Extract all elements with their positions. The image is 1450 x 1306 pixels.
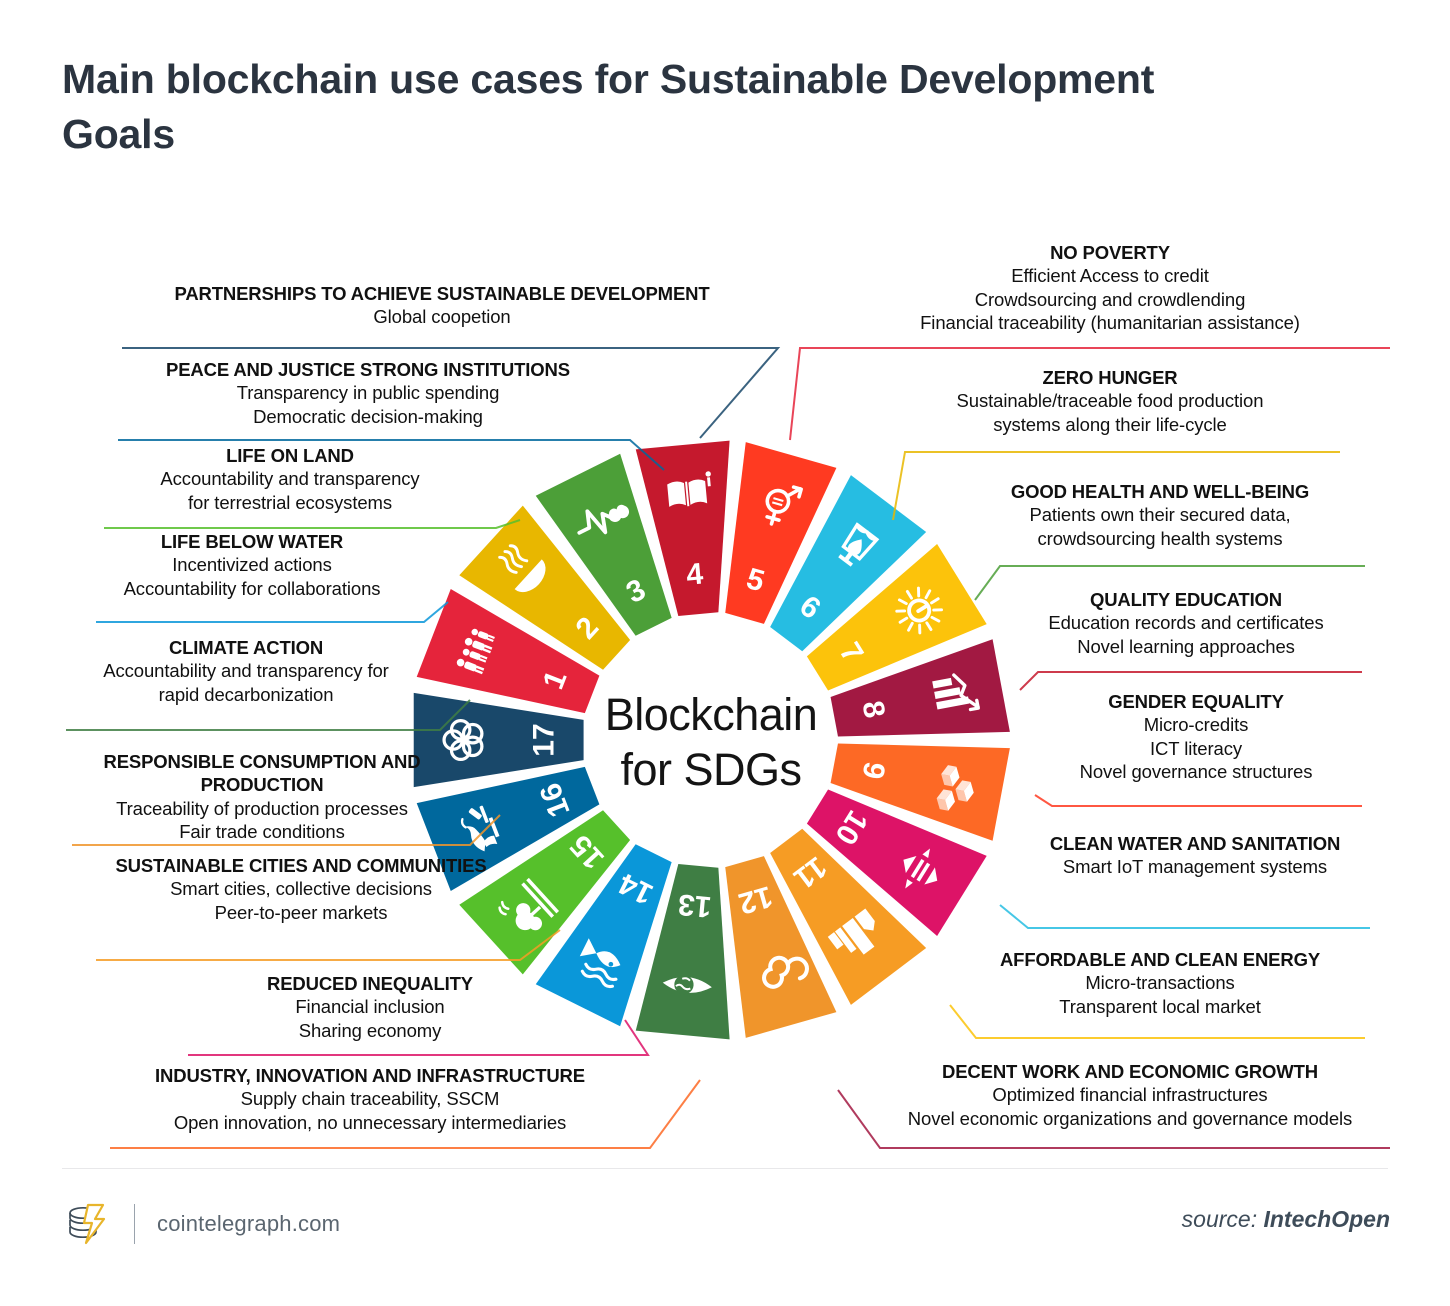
page-title: Main blockchain use cases for Sustainabl… <box>62 52 1162 163</box>
goal-title-13: CLIMATE ACTION <box>56 636 436 659</box>
goal-title-4: QUALITY EDUCATION <box>1010 588 1362 611</box>
goal-detail-3-2: crowdsourcing health systems <box>955 527 1365 550</box>
source-credit: source: IntechOpen <box>1182 1206 1390 1233</box>
goal-title-8: DECENT WORK AND ECONOMIC GROWTH <box>870 1060 1390 1083</box>
goal-label-13[interactable]: CLIMATE ACTIONAccountability and transpa… <box>56 636 436 706</box>
goal-detail-7-1: Micro-transactions <box>955 971 1365 994</box>
goal-detail-13-1: Accountability and transparency for <box>56 659 436 682</box>
goal-title-16: PEACE AND JUSTICE STRONG INSTITUTIONS <box>108 358 628 381</box>
goal-detail-17-1: Global coopetion <box>112 305 772 328</box>
goal-label-14[interactable]: LIFE BELOW WATERIncentivized actionsAcco… <box>84 530 420 600</box>
goal-label-7[interactable]: AFFORDABLE AND CLEAN ENERGYMicro-transac… <box>955 948 1365 1018</box>
site-url[interactable]: cointelegraph.com <box>157 1211 340 1237</box>
goal-detail-1-2: Crowdsourcing and crowdlending <box>830 288 1390 311</box>
goal-title-9: INDUSTRY, INNOVATION AND INFRASTRUCTURE <box>100 1064 640 1087</box>
goal-detail-11-1: Smart cities, collective decisions <box>86 877 516 900</box>
goal-detail-11-2: Peer-to-peer markets <box>86 901 516 924</box>
connector-4 <box>1020 672 1362 690</box>
goal-label-17[interactable]: PARTNERSHIPS TO ACHIEVE SUSTAINABLE DEVE… <box>112 282 772 329</box>
goal-detail-2-1: Sustainable/traceable food production <box>880 389 1340 412</box>
goal-detail-5-1: Micro-credits <box>1030 713 1362 736</box>
goal-label-8[interactable]: DECENT WORK AND ECONOMIC GROWTHOptimized… <box>870 1060 1390 1130</box>
goal-detail-3-1: Patients own their secured data, <box>955 503 1365 526</box>
goal-detail-15-2: for terrestrial ecosystems <box>90 491 490 514</box>
goal-title-2: ZERO HUNGER <box>880 366 1340 389</box>
goal-detail-1-3: Financial traceability (humanitarian ass… <box>830 311 1390 334</box>
goal-title-11: SUSTAINABLE CITIES AND COMMUNITIES <box>86 854 516 877</box>
goal-label-12[interactable]: RESPONSIBLE CONSUMPTION AND PRODUCTIONTr… <box>62 750 462 844</box>
goal-title-17: PARTNERSHIPS TO ACHIEVE SUSTAINABLE DEVE… <box>112 282 772 305</box>
goal-detail-1-1: Efficient Access to credit <box>830 264 1390 287</box>
goal-label-15[interactable]: LIFE ON LANDAccountability and transpare… <box>90 444 490 514</box>
brand-divider <box>134 1204 135 1244</box>
goal-detail-9-2: Open innovation, no unnecessary intermed… <box>100 1111 640 1134</box>
goal-detail-6-1: Smart IoT management systems <box>1020 855 1370 878</box>
goal-title-3: GOOD HEALTH AND WELL-BEING <box>955 480 1365 503</box>
goal-label-4[interactable]: QUALITY EDUCATIONEducation records and c… <box>1010 588 1362 658</box>
goal-detail-12-1: Traceability of production processes <box>62 797 462 820</box>
goal-detail-4-1: Education records and certificates <box>1010 611 1362 634</box>
connector-6 <box>1000 905 1370 928</box>
goal-title-10: REDUCED INEQUALITY <box>140 972 600 995</box>
goal-title-5: GENDER EQUALITY <box>1030 690 1362 713</box>
sdg-wheel: 1234567891011121314151617 <box>395 425 1025 1055</box>
goal-detail-9-1: Supply chain traceability, SSCM <box>100 1087 640 1110</box>
goal-detail-14-2: Accountability for collaborations <box>84 577 420 600</box>
segment-number-13: 13 <box>677 887 713 923</box>
goal-detail-10-2: Sharing economy <box>140 1019 600 1042</box>
goal-detail-4-2: Novel learning approaches <box>1010 635 1362 658</box>
goal-title-7: AFFORDABLE AND CLEAN ENERGY <box>955 948 1365 971</box>
goal-label-16[interactable]: PEACE AND JUSTICE STRONG INSTITUTIONSTra… <box>108 358 628 428</box>
goal-detail-13-2: rapid decarbonization <box>56 683 436 706</box>
source-prefix: source: <box>1182 1206 1257 1232</box>
goal-detail-8-1: Optimized financial infrastructures <box>870 1083 1390 1106</box>
goal-label-6[interactable]: CLEAN WATER AND SANITATIONSmart IoT mana… <box>1020 832 1370 879</box>
goal-label-3[interactable]: GOOD HEALTH AND WELL-BEINGPatients own t… <box>955 480 1365 550</box>
goal-title-14: LIFE BELOW WATER <box>84 530 420 553</box>
brand-block: cointelegraph.com <box>62 1199 340 1249</box>
goal-label-5[interactable]: GENDER EQUALITYMicro-creditsICT literacy… <box>1030 690 1362 784</box>
goal-label-10[interactable]: REDUCED INEQUALITYFinancial inclusionSha… <box>140 972 600 1042</box>
goal-label-1[interactable]: NO POVERTYEfficient Access to creditCrow… <box>830 241 1390 335</box>
source-name: IntechOpen <box>1263 1206 1390 1232</box>
connector-5 <box>1035 795 1362 806</box>
goal-label-11[interactable]: SUSTAINABLE CITIES AND COMMUNITIESSmart … <box>86 854 516 924</box>
goal-detail-14-1: Incentivized actions <box>84 553 420 576</box>
goal-detail-16-1: Transparency in public spending <box>108 381 628 404</box>
goal-title-12: RESPONSIBLE CONSUMPTION AND PRODUCTION <box>62 750 462 797</box>
goal-detail-10-1: Financial inclusion <box>140 995 600 1018</box>
goal-detail-12-2: Fair trade conditions <box>62 820 462 843</box>
goal-title-6: CLEAN WATER AND SANITATION <box>1020 832 1370 855</box>
infographic-page: Main blockchain use cases for Sustainabl… <box>0 0 1450 1306</box>
goal-detail-15-1: Accountability and transparency <box>90 467 490 490</box>
footer-divider <box>62 1168 1388 1169</box>
goal-label-2[interactable]: ZERO HUNGERSustainable/traceable food pr… <box>880 366 1340 436</box>
goal-detail-5-3: Novel governance structures <box>1030 760 1362 783</box>
cointelegraph-coin-bolt-icon <box>62 1199 112 1249</box>
segment-number-4: 4 <box>685 557 705 591</box>
goal-detail-2-2: systems along their life-cycle <box>880 413 1340 436</box>
goal-detail-5-2: ICT literacy <box>1030 737 1362 760</box>
goal-title-15: LIFE ON LAND <box>90 444 490 467</box>
goal-label-9[interactable]: INDUSTRY, INNOVATION AND INFRASTRUCTURES… <box>100 1064 640 1134</box>
goal-detail-16-2: Democratic decision-making <box>108 405 628 428</box>
goal-detail-7-2: Transparent local market <box>955 995 1365 1018</box>
goal-detail-8-2: Novel economic organizations and governa… <box>870 1107 1390 1130</box>
goal-title-1: NO POVERTY <box>830 241 1390 264</box>
segment-number-17: 17 <box>528 723 561 756</box>
